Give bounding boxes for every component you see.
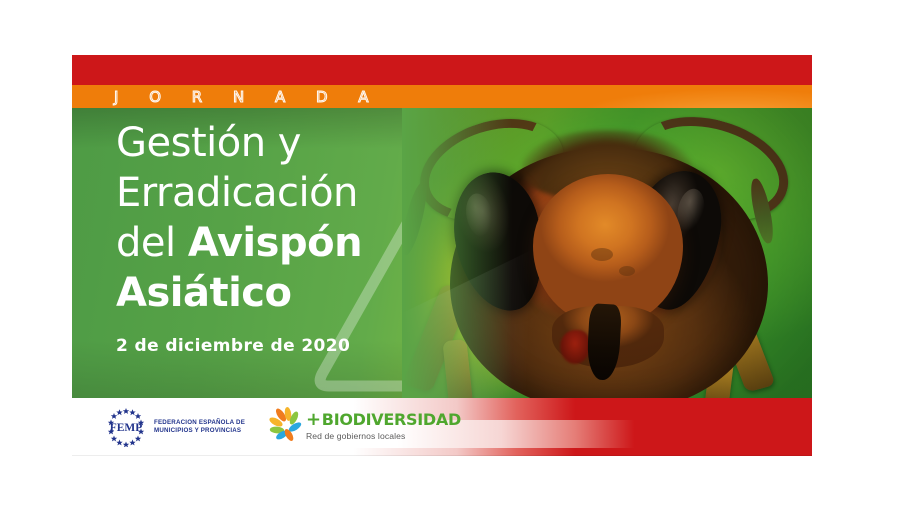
biodiversidad-text: + BIODIVERSIDAD Red de gobiernos locales: [306, 411, 461, 441]
biodiversidad-subtitle: Red de gobiernos locales: [306, 432, 461, 441]
hornet-face: [533, 174, 683, 324]
biodiversidad-title-row: + BIODIVERSIDAD: [306, 411, 461, 429]
title-line-3-light: del: [116, 220, 188, 266]
biodiversidad-title: BIODIVERSIDAD: [322, 412, 461, 428]
hornet-mouth-red: [560, 330, 590, 364]
hornet-face-speck: [619, 266, 635, 276]
jornada-kicker: J O R N A D A: [114, 88, 382, 106]
biodiversidad-logo: + BIODIVERSIDAD Red de gobiernos locales: [268, 406, 461, 446]
poster-stage: Gestión y Erradicación del Avispón Asiát…: [72, 108, 812, 398]
femp-logo-text: FEDERACION ESPAÑOLA DE MUNICIPIOS Y PROV…: [154, 419, 245, 436]
femp-line-2: MUNICIPIOS Y PROVINCIAS: [154, 427, 245, 435]
poster-title-block: Gestión y Erradicación del Avispón Asiát…: [116, 118, 456, 356]
title-line-3-bold: Avispón: [188, 220, 362, 266]
title-line-2: Erradicación: [116, 168, 456, 218]
event-date: 2 de diciembre de 2020: [116, 336, 456, 356]
orange-band-glow: [552, 85, 812, 108]
poster-footer: FEMP FEDERACION ESPAÑOLA DE MUNICIPIOS Y…: [72, 398, 812, 456]
screenshot-canvas: J O R N A D A: [0, 0, 908, 529]
title-line-1: Gestión y: [116, 118, 456, 168]
footer-logos: FEMP FEDERACION ESPAÑOLA DE MUNICIPIOS Y…: [72, 398, 812, 456]
title-line-3: del Avispón: [116, 218, 456, 268]
jornada-band: J O R N A D A: [72, 85, 812, 108]
event-poster: J O R N A D A: [72, 55, 812, 456]
biodiversidad-plus-symbol: +: [306, 411, 321, 429]
femp-logo: FEMP FEDERACION ESPAÑOLA DE MUNICIPIOS Y…: [105, 407, 245, 447]
femp-line-1: FEDERACION ESPAÑOLA DE: [154, 419, 245, 427]
femp-stars-icon: FEMP: [105, 407, 147, 447]
avispon-asiatico-photo: [402, 108, 812, 398]
top-red-band: [72, 55, 812, 85]
svg-text:FEMP: FEMP: [110, 422, 143, 434]
title-line-4: Asiático: [116, 268, 456, 318]
biodiversidad-leaves-icon: [268, 406, 304, 446]
hornet-face-speck: [591, 248, 613, 261]
